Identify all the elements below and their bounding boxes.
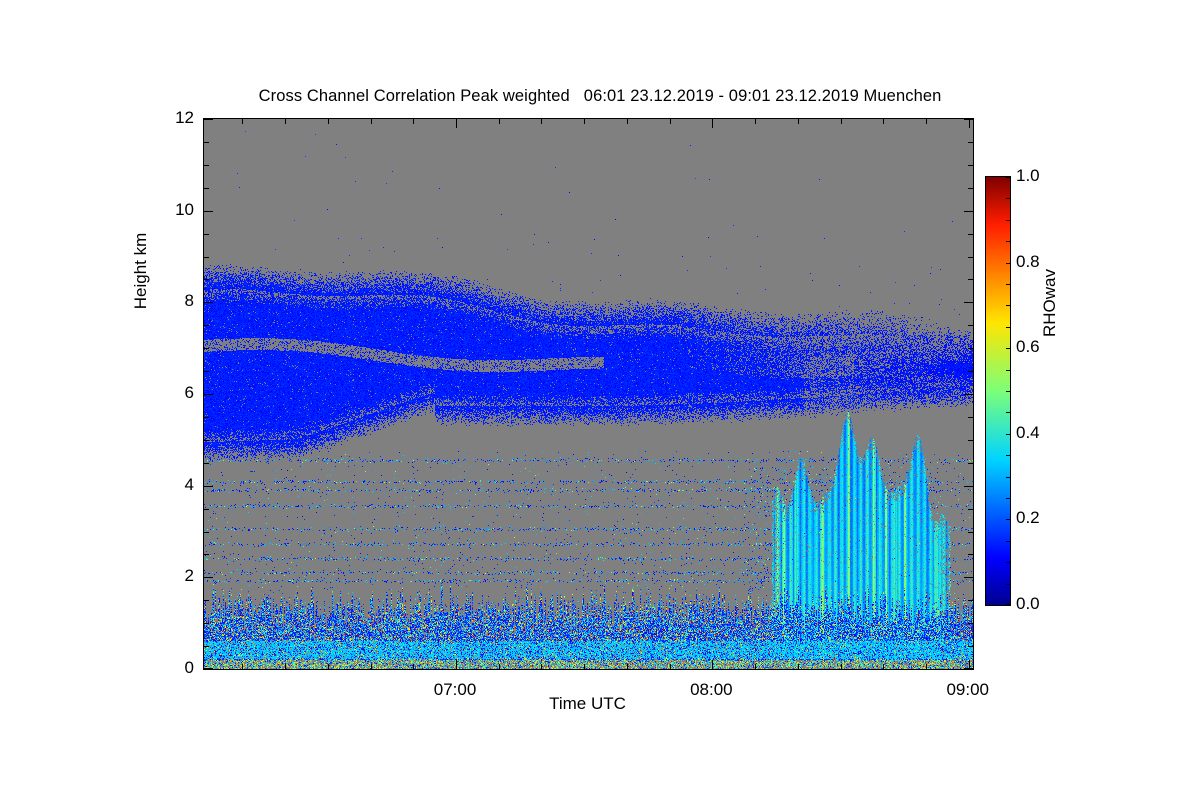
colorbar-tick-0.40 [1006, 434, 1010, 435]
y-tick-right-7.5 [968, 325, 973, 326]
x-tick-top-8.83 [926, 119, 927, 124]
colorbar-tick-0.50 [1006, 391, 1010, 392]
y-tick-right-1 [968, 623, 973, 624]
x-tick-top-7.50 [584, 119, 585, 124]
colorbar-tick-0.75 [1006, 284, 1010, 285]
x-tick-8.33 [798, 664, 799, 669]
x-tick-top-8.00 [712, 119, 713, 128]
y-tick-6.5 [204, 371, 209, 372]
y-tick-3 [204, 532, 209, 533]
y-tick-right-4 [964, 486, 973, 487]
x-tick-top-7.83 [670, 119, 671, 124]
colorbar-tick-0.90 [1006, 220, 1010, 221]
y-tick-3.5 [204, 509, 209, 510]
y-tick-right-3 [968, 532, 973, 533]
y-tick-right-2 [964, 577, 973, 578]
y-tick-10 [204, 211, 213, 212]
colorbar-tick-0.55 [1006, 370, 1010, 371]
y-tick-right-0.5 [968, 646, 973, 647]
x-tick-top-8.17 [755, 119, 756, 124]
x-tick-top-6.50 [328, 119, 329, 124]
x-tick-top-6.33 [285, 119, 286, 124]
y-tick-2 [204, 577, 213, 578]
y-tick-6 [204, 394, 213, 395]
y-tick-right-8.5 [968, 279, 973, 280]
y-tick-label-4: 4 [150, 475, 194, 495]
y-tick-11.5 [204, 142, 209, 143]
x-tick-top-6.83 [413, 119, 414, 124]
colorbar [985, 176, 1011, 606]
y-tick-label-10: 10 [150, 200, 194, 220]
x-tick-7.00 [456, 660, 457, 669]
x-tick-7.33 [541, 664, 542, 669]
x-tick-top-7.17 [499, 119, 500, 124]
y-tick-right-5 [968, 440, 973, 441]
x-tick-top-7.67 [627, 119, 628, 124]
colorbar-tick-0.60 [1006, 348, 1010, 349]
y-tick-10.5 [204, 188, 209, 189]
radar-timeheight-figure: Cross Channel Correlation Peak weighted … [0, 0, 1200, 800]
colorbar-tick-0.10 [1006, 562, 1010, 563]
x-tick-8.17 [755, 664, 756, 669]
y-tick-label-8: 8 [150, 291, 194, 311]
x-tick-8.83 [926, 664, 927, 669]
x-tick-8.50 [841, 664, 842, 669]
heatmap-canvas [204, 119, 973, 669]
y-tick-label-2: 2 [150, 566, 194, 586]
x-tick-9.00 [969, 660, 970, 669]
colorbar-tick-0.30 [1006, 477, 1010, 478]
y-tick-8.5 [204, 279, 209, 280]
colorbar-tick-1.00 [1006, 177, 1010, 178]
colorbar-tick-0.95 [1006, 198, 1010, 199]
colorbar-tick-0.35 [1006, 455, 1010, 456]
x-tick-6.33 [285, 664, 286, 669]
y-tick-9 [204, 257, 209, 258]
x-tick-6.67 [371, 664, 372, 669]
y-tick-right-9 [968, 257, 973, 258]
x-tick-top-8.50 [841, 119, 842, 124]
y-tick-right-6.5 [968, 371, 973, 372]
y-tick-right-10 [964, 211, 973, 212]
x-tick-7.83 [670, 664, 671, 669]
colorbar-tick-0.05 [1006, 584, 1010, 585]
x-axis-title: Time UTC [203, 694, 972, 714]
y-tick-right-1.5 [968, 600, 973, 601]
y-tick-5 [204, 440, 209, 441]
y-tick-2.5 [204, 554, 209, 555]
y-axis-title: Height km [131, 181, 151, 361]
colorbar-tick-0.80 [1006, 263, 1010, 264]
x-tick-top-6.17 [242, 119, 243, 124]
y-tick-label-6: 6 [150, 383, 194, 403]
y-tick-right-2.5 [968, 554, 973, 555]
y-tick-right-4.5 [968, 463, 973, 464]
y-tick-right-7 [968, 348, 973, 349]
y-tick-0.5 [204, 646, 209, 647]
y-tick-0 [204, 668, 213, 669]
x-tick-top-9.00 [969, 119, 970, 128]
y-tick-11 [204, 165, 209, 166]
colorbar-title: RHOwav [1040, 223, 1060, 383]
x-tick-8.00 [712, 660, 713, 669]
y-tick-8 [204, 302, 213, 303]
colorbar-tick-label-0-6: 0.6 [1016, 337, 1040, 357]
x-tick-top-7.00 [456, 119, 457, 128]
y-tick-right-5.5 [968, 417, 973, 418]
x-tick-8.67 [883, 664, 884, 669]
y-tick-7 [204, 348, 209, 349]
colorbar-tick-0.65 [1006, 327, 1010, 328]
colorbar-tick-label-0-8: 0.8 [1016, 252, 1040, 272]
page-title: Cross Channel Correlation Peak weighted … [0, 87, 1200, 106]
y-tick-right-9.5 [968, 234, 973, 235]
y-tick-1.5 [204, 600, 209, 601]
x-tick-6.83 [413, 664, 414, 669]
colorbar-tick-0.70 [1006, 305, 1010, 306]
colorbar-tick-label-1-0: 1.0 [1016, 166, 1040, 186]
colorbar-tick-0.45 [1006, 412, 1010, 413]
x-tick-6.50 [328, 664, 329, 669]
y-tick-1 [204, 623, 209, 624]
x-tick-6.17 [242, 664, 243, 669]
x-tick-top-6.67 [371, 119, 372, 124]
y-tick-label-0: 0 [150, 658, 194, 678]
colorbar-tick-label-0-0: 0.0 [1016, 594, 1040, 614]
y-tick-right-10.5 [968, 188, 973, 189]
y-tick-right-11.5 [968, 142, 973, 143]
x-tick-top-8.67 [883, 119, 884, 124]
x-tick-7.50 [584, 664, 585, 669]
y-tick-right-11 [968, 165, 973, 166]
y-tick-12 [204, 119, 213, 120]
x-tick-top-7.33 [541, 119, 542, 124]
y-tick-4.5 [204, 463, 209, 464]
x-tick-top-8.33 [798, 119, 799, 124]
x-tick-7.17 [499, 664, 500, 669]
colorbar-tick-label-0-4: 0.4 [1016, 423, 1040, 443]
colorbar-tick-0.20 [1006, 519, 1010, 520]
y-tick-9.5 [204, 234, 209, 235]
y-tick-4 [204, 486, 213, 487]
y-tick-right-3.5 [968, 509, 973, 510]
colorbar-tick-label-0-2: 0.2 [1016, 508, 1040, 528]
colorbar-tick-0.15 [1006, 541, 1010, 542]
colorbar-tick-0.00 [1006, 604, 1010, 605]
plot-area [203, 118, 974, 670]
y-tick-label-12: 12 [150, 108, 194, 128]
colorbar-tick-0.25 [1006, 498, 1010, 499]
y-tick-right-8 [964, 302, 973, 303]
colorbar-tick-0.85 [1006, 241, 1010, 242]
x-tick-7.67 [627, 664, 628, 669]
y-tick-5.5 [204, 417, 209, 418]
y-tick-7.5 [204, 325, 209, 326]
y-tick-right-6 [964, 394, 973, 395]
